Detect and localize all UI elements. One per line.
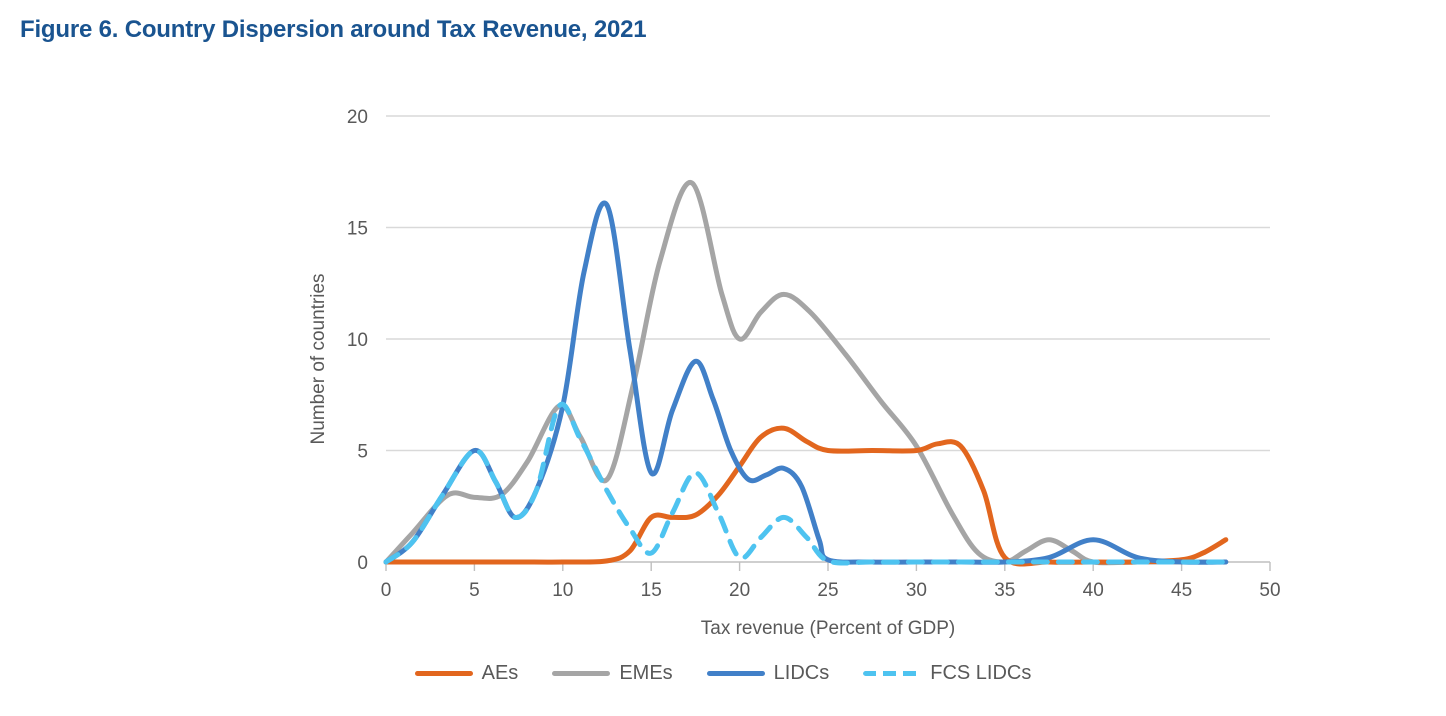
legend-swatch-icon (707, 671, 765, 676)
legend-label: EMEs (619, 662, 672, 685)
x-tick-label: 20 (729, 580, 750, 601)
legend-swatch-icon (552, 671, 610, 676)
legend-item-aes[interactable]: AEs (415, 662, 519, 685)
y-tick-label: 10 (347, 330, 368, 351)
y-axis-title: Number of countries (308, 273, 329, 444)
x-tick-label: 35 (994, 580, 1015, 601)
x-axis-title: Tax revenue (Percent of GDP) (701, 618, 956, 639)
legend-swatch-icon (863, 671, 921, 676)
y-tick-label: 15 (347, 219, 368, 240)
legend-swatch-icon (415, 671, 473, 676)
x-tick-label: 0 (381, 580, 392, 601)
y-tick-label: 0 (357, 553, 368, 574)
chart-plot-area: 05101520 05101520253035404550 Number of … (0, 60, 1446, 660)
x-tick-label: 25 (817, 580, 838, 601)
series-paths-group (386, 182, 1226, 564)
legend-item-fcs-lidcs[interactable]: FCS LIDCs (863, 662, 1031, 685)
x-tick-label: 40 (1083, 580, 1104, 601)
legend-item-lidcs[interactable]: LIDCs (707, 662, 830, 685)
x-tick-label: 10 (552, 580, 573, 601)
x-tick-label: 5 (469, 580, 480, 601)
gridlines-group (386, 116, 1270, 562)
x-axis-tick-labels: 05101520253035404550 (381, 580, 1281, 601)
legend-item-emes[interactable]: EMEs (552, 662, 672, 685)
legend-label: LIDCs (774, 662, 830, 685)
y-axis-tick-labels: 05101520 (347, 107, 368, 574)
x-tick-label: 15 (641, 580, 662, 601)
legend-label: FCS LIDCs (930, 662, 1031, 685)
y-tick-label: 20 (347, 107, 368, 128)
x-tick-label: 50 (1259, 580, 1280, 601)
legend-label: AEs (482, 662, 519, 685)
figure-title: Figure 6. Country Dispersion around Tax … (20, 16, 646, 44)
series-line-emes (386, 182, 1226, 562)
chart-svg: 05101520 05101520253035404550 Number of … (0, 60, 1446, 660)
x-tick-label: 30 (906, 580, 927, 601)
y-tick-label: 5 (357, 442, 368, 463)
series-line-lidcs (386, 203, 1226, 562)
x-tick-label: 45 (1171, 580, 1192, 601)
chart-legend: AEsEMEsLIDCsFCS LIDCs (0, 662, 1446, 685)
